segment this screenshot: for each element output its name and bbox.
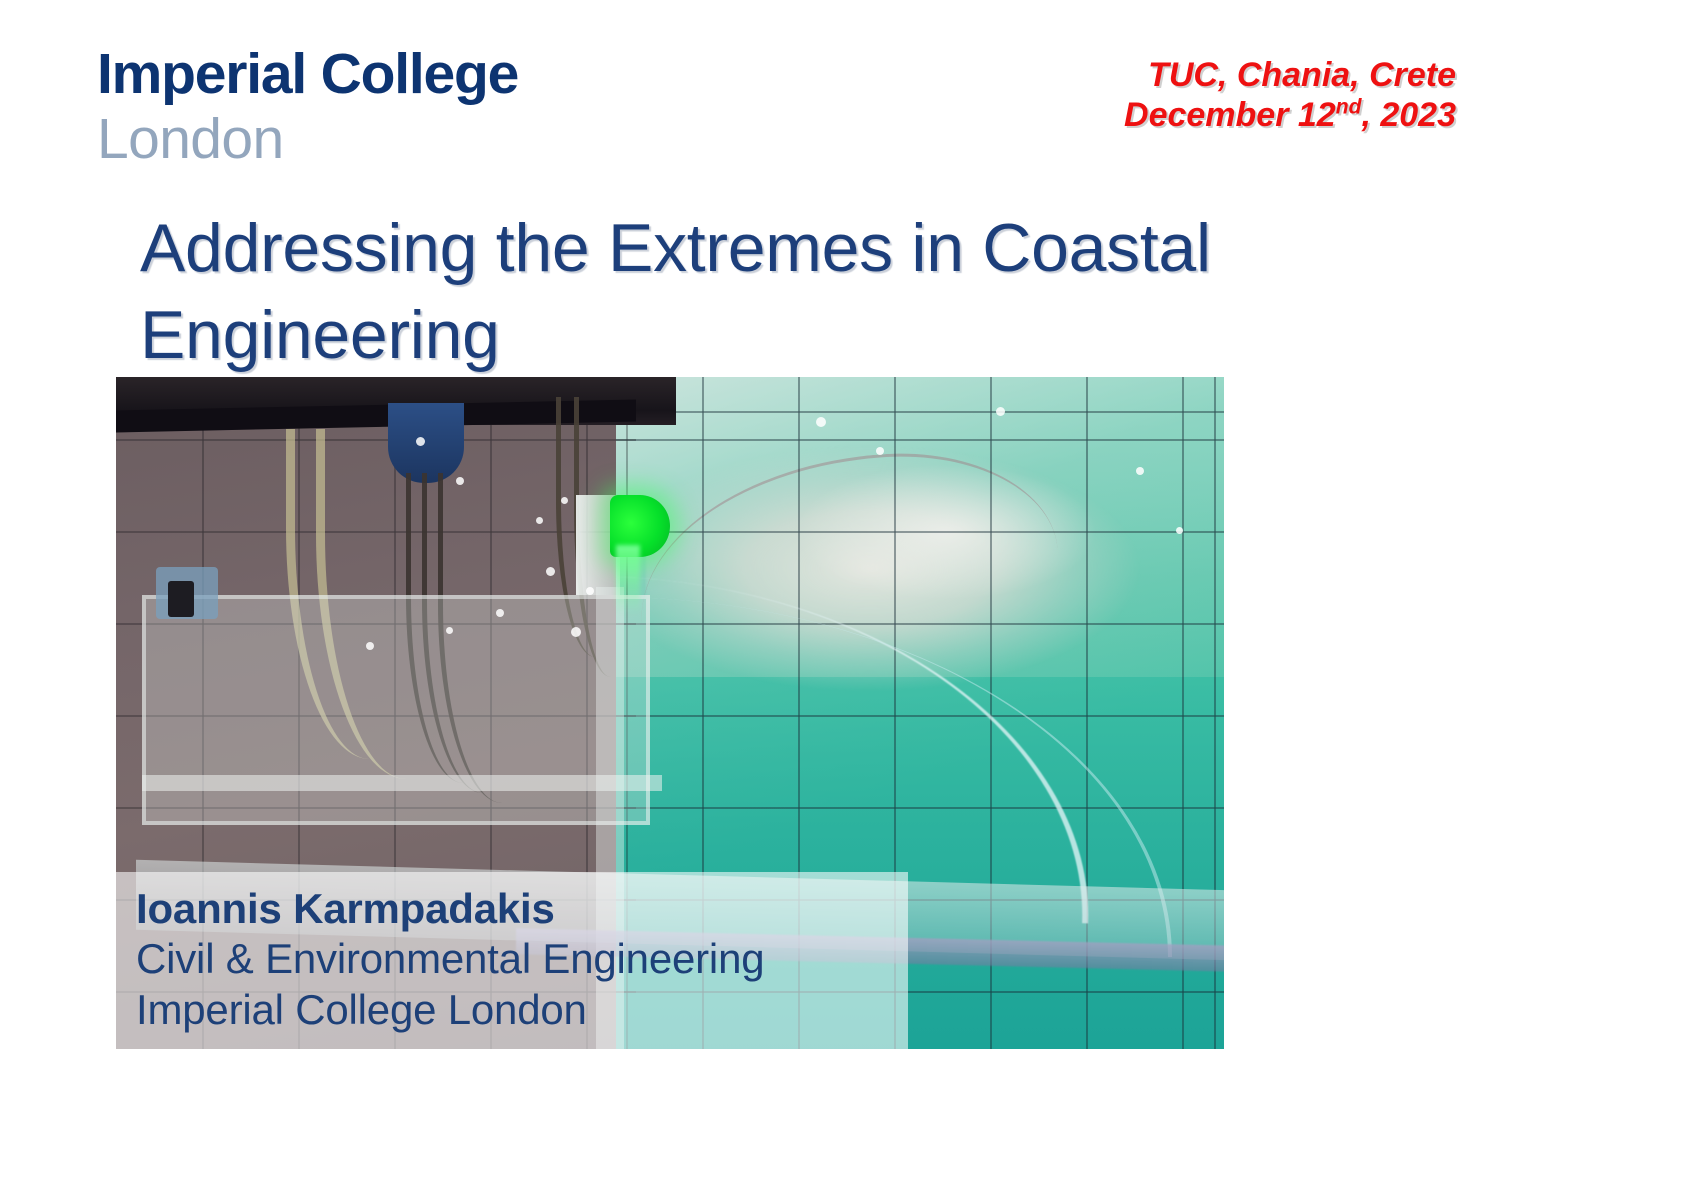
event-date-ordinal-suffix: nd [1336, 96, 1362, 119]
bubble [456, 477, 464, 485]
bubble [586, 587, 594, 595]
page-title: Addressing the Extremes in Coastal Engin… [140, 205, 1440, 379]
bubble [366, 642, 374, 650]
bubble [546, 567, 555, 576]
author-caption: Ioannis Karmpadakis Civil & Environmenta… [136, 884, 936, 1035]
logo-line-imperial-college: Imperial College [97, 46, 518, 103]
bubble [446, 627, 453, 634]
bubble [536, 517, 543, 524]
bubble [571, 627, 581, 637]
author-institution: Imperial College London [136, 985, 936, 1035]
bubble [1136, 467, 1144, 475]
bubble [816, 417, 826, 427]
author-department: Civil & Environmental Engineering [136, 934, 936, 984]
event-date-year: , 2023 [1361, 96, 1456, 134]
bubble [1176, 527, 1183, 534]
sensor-mount-box [156, 567, 218, 619]
presentation-slide: Imperial College London TUC, Chania, Cre… [0, 0, 1696, 1200]
bubble [561, 497, 568, 504]
logo-line-london: London [97, 111, 518, 168]
bubble [416, 437, 425, 446]
imperial-college-london-logo: Imperial College London [97, 46, 518, 168]
event-details: TUC, Chania, Crete December 12nd, 2023 [1124, 55, 1456, 135]
bubble [996, 407, 1005, 416]
event-location: TUC, Chania, Crete [1124, 55, 1456, 95]
event-date-prefix: December 12 [1124, 96, 1336, 134]
acrylic-lower-bar [142, 775, 662, 791]
bubble [876, 447, 884, 455]
event-date: December 12nd, 2023 [1124, 95, 1456, 135]
bubble [496, 609, 504, 617]
author-name: Ioannis Karmpadakis [136, 884, 936, 934]
